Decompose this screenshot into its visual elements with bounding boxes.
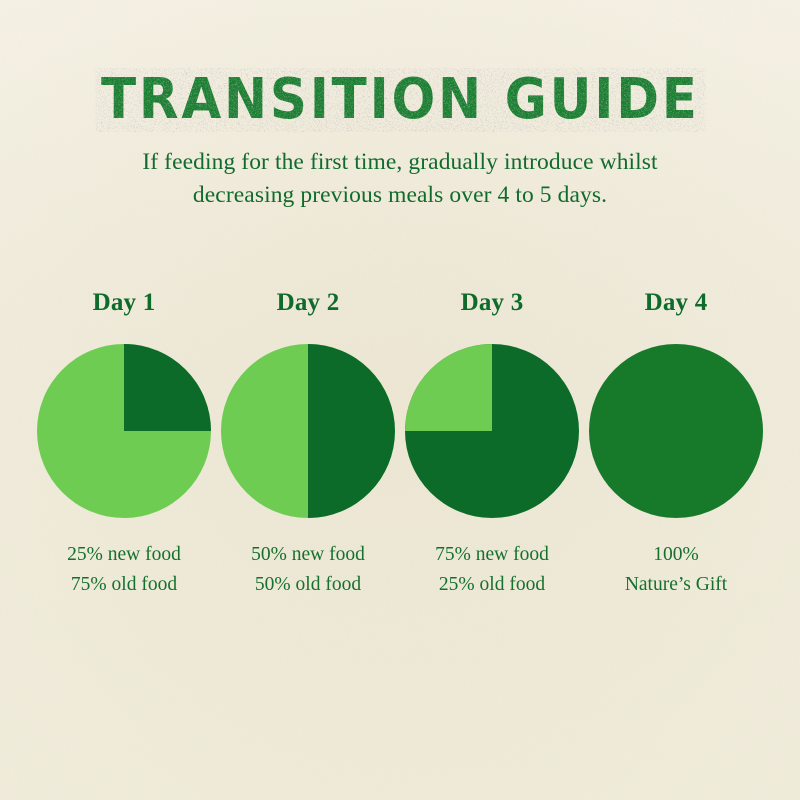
caption-new-food: 50% new food [220,540,396,570]
page-subtitle: If feeding for the first time, gradually… [96,146,704,213]
pie-chart-day-3 [404,343,580,519]
caption-old-food: 50% old food [220,570,396,600]
subtitle-line-1: If feeding for the first time, gradually… [142,149,657,175]
pie-slice-new-food [308,344,395,518]
day-label: Day 3 [404,286,580,320]
step-caption: 50% new food 50% old food [220,540,396,599]
pie-chart-day-4 [588,343,764,519]
day-label: Day 2 [220,286,396,320]
page-title: TRANSITION GUIDE [101,72,700,128]
transition-step-day-1: Day 1 25% new food 75% old food [36,286,212,599]
pie-slice-new-food [589,344,763,518]
transition-step-day-3: Day 3 75% new food 25% old food [404,286,580,599]
step-caption: 100% Nature’s Gift [588,540,764,599]
pie-chart-day-2 [220,343,396,519]
day-label: Day 4 [588,286,764,320]
pie-svg [404,343,580,519]
transition-steps-row: Day 1 25% new food 75% old food Day 2 [0,286,800,599]
step-caption: 25% new food 75% old food [36,540,212,599]
day-label: Day 1 [36,286,212,320]
transition-step-day-2: Day 2 50% new food 50% old food [220,286,396,599]
title-distress-texture [95,68,705,132]
caption-percent: 100% [588,540,764,570]
pie-slice-new-food [124,344,211,431]
caption-new-food: 25% new food [36,540,212,570]
caption-old-food: 75% old food [36,570,212,600]
caption-new-food: 75% new food [404,540,580,570]
pie-svg [588,343,764,519]
transition-step-day-4: Day 4 100% Nature’s Gift [588,286,764,599]
caption-old-food: 25% old food [404,570,580,600]
step-caption: 75% new food 25% old food [404,540,580,599]
page-title-wrap: TRANSITION GUIDE [0,72,800,128]
pie-chart-day-1 [36,343,212,519]
transition-guide-infographic: TRANSITION GUIDE If feeding for the firs… [0,0,800,800]
pie-svg [36,343,212,519]
caption-product-name: Nature’s Gift [588,570,764,600]
pie-svg [220,343,396,519]
pie-slice-old-food [405,344,492,431]
subtitle-line-2: decreasing previous meals over 4 to 5 da… [96,179,704,212]
